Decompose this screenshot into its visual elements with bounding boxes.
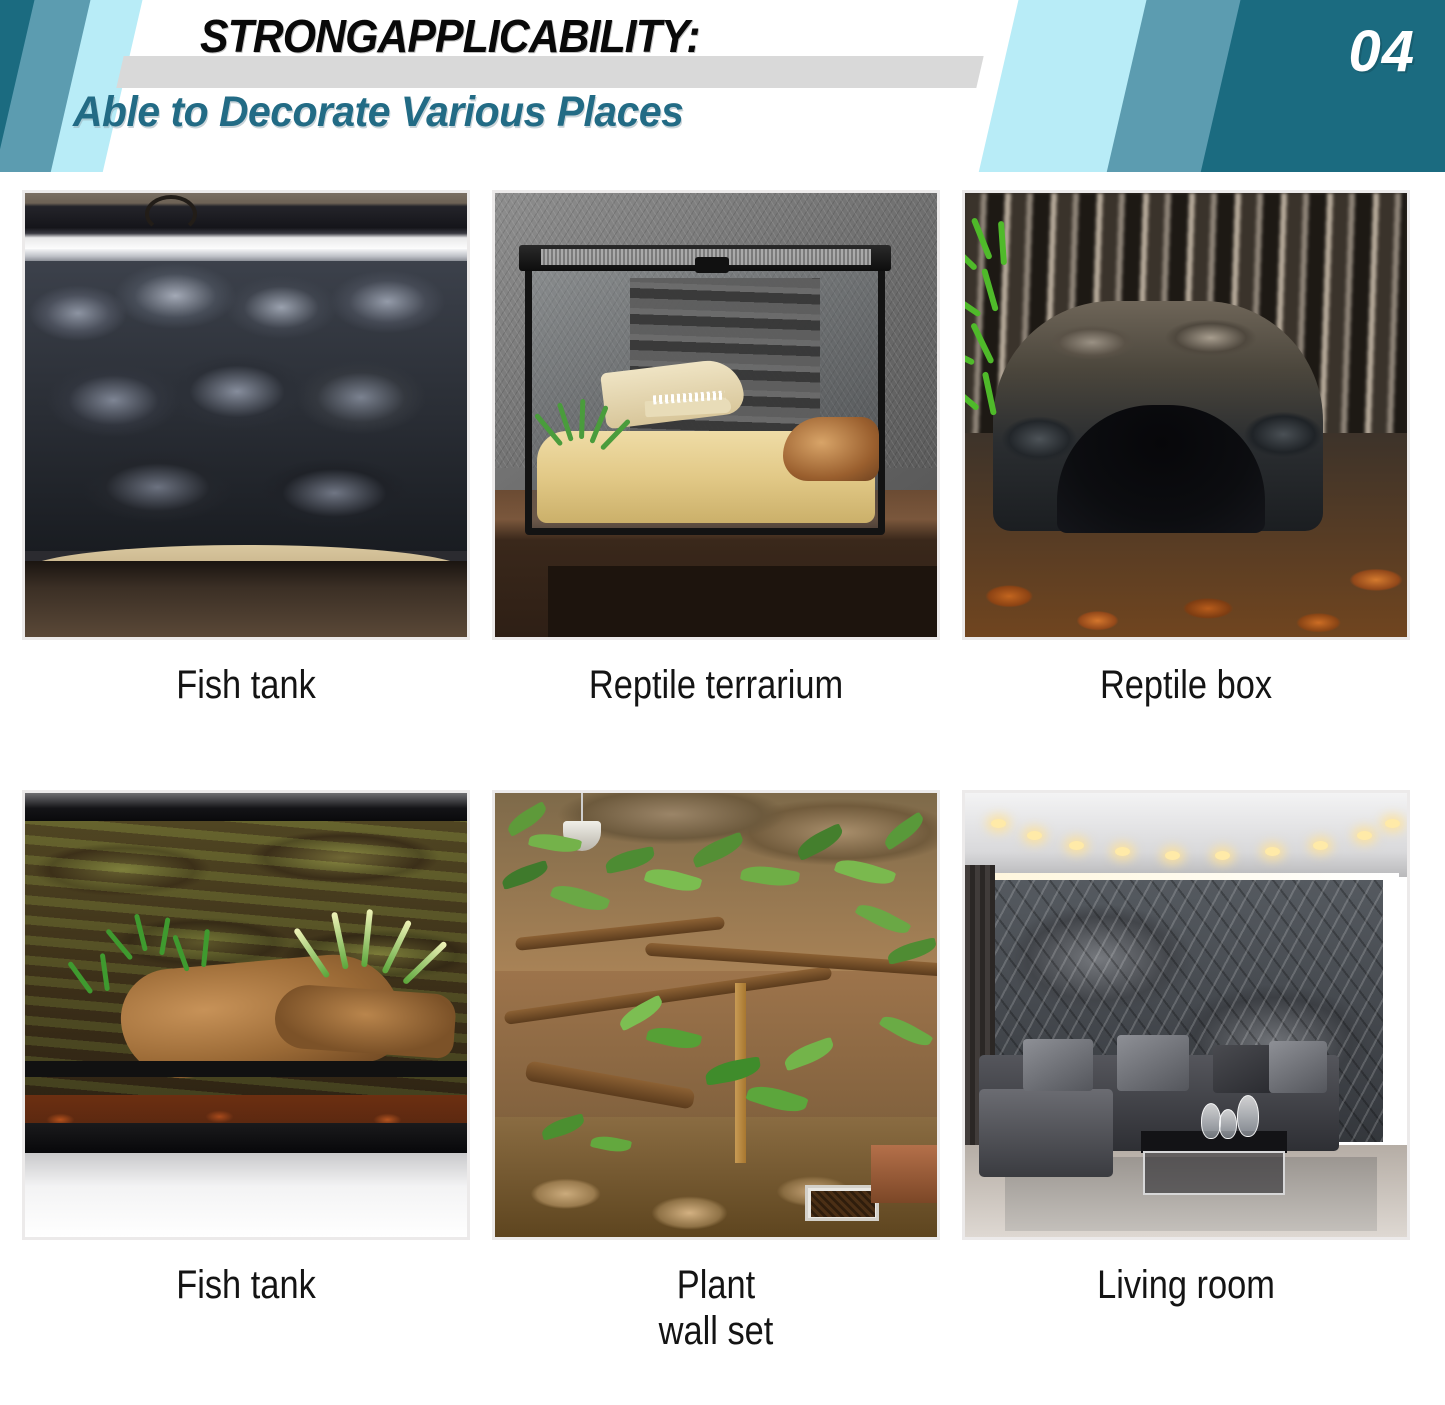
cell-caption: Reptile terrarium xyxy=(523,662,908,708)
grid-cell: Fish tank xyxy=(22,190,470,708)
photo-living-room xyxy=(962,790,1410,1240)
grid-cell: Reptile box xyxy=(962,190,1410,708)
feeding-tray xyxy=(805,1185,879,1221)
grid-row: Fish tank xyxy=(0,790,1445,1390)
applications-grid: Fish tank xyxy=(0,190,1445,1390)
grid-row: Fish tank xyxy=(0,190,1445,790)
section-number-badge: 04 xyxy=(1348,18,1415,85)
cell-caption: Fish tank xyxy=(53,662,438,708)
photo-fish-tank-grey xyxy=(22,190,470,640)
grid-cell: Living room xyxy=(962,790,1410,1308)
grid-cell: Plant wall set xyxy=(492,790,940,1355)
cell-caption: Fish tank xyxy=(53,1262,438,1308)
photo-reptile-terrarium xyxy=(492,190,940,640)
cell-caption: Living room xyxy=(993,1262,1378,1308)
planter-pot xyxy=(871,1145,940,1203)
photo-fish-tank-mossy xyxy=(22,790,470,1240)
page-title: STRONGAPPLICABILITY: xyxy=(200,9,700,63)
page-subtitle: Able to Decorate Various Places xyxy=(73,88,683,137)
fern-plant-icon xyxy=(967,215,1059,445)
ceiling-spotlights xyxy=(965,833,1407,855)
cell-caption: Plant wall set xyxy=(523,1262,908,1355)
photo-reptile-box xyxy=(962,190,1410,640)
photo-plant-wall-set xyxy=(492,790,940,1240)
light-cord-icon xyxy=(145,195,197,233)
grid-cell: Fish tank xyxy=(22,790,470,1308)
plant-decor-icon xyxy=(553,399,613,447)
cell-caption: Reptile box xyxy=(993,662,1378,708)
page-header: STRONGAPPLICABILITY: Able to Decorate Va… xyxy=(0,0,1445,172)
grid-cell: Reptile terrarium xyxy=(492,190,940,708)
